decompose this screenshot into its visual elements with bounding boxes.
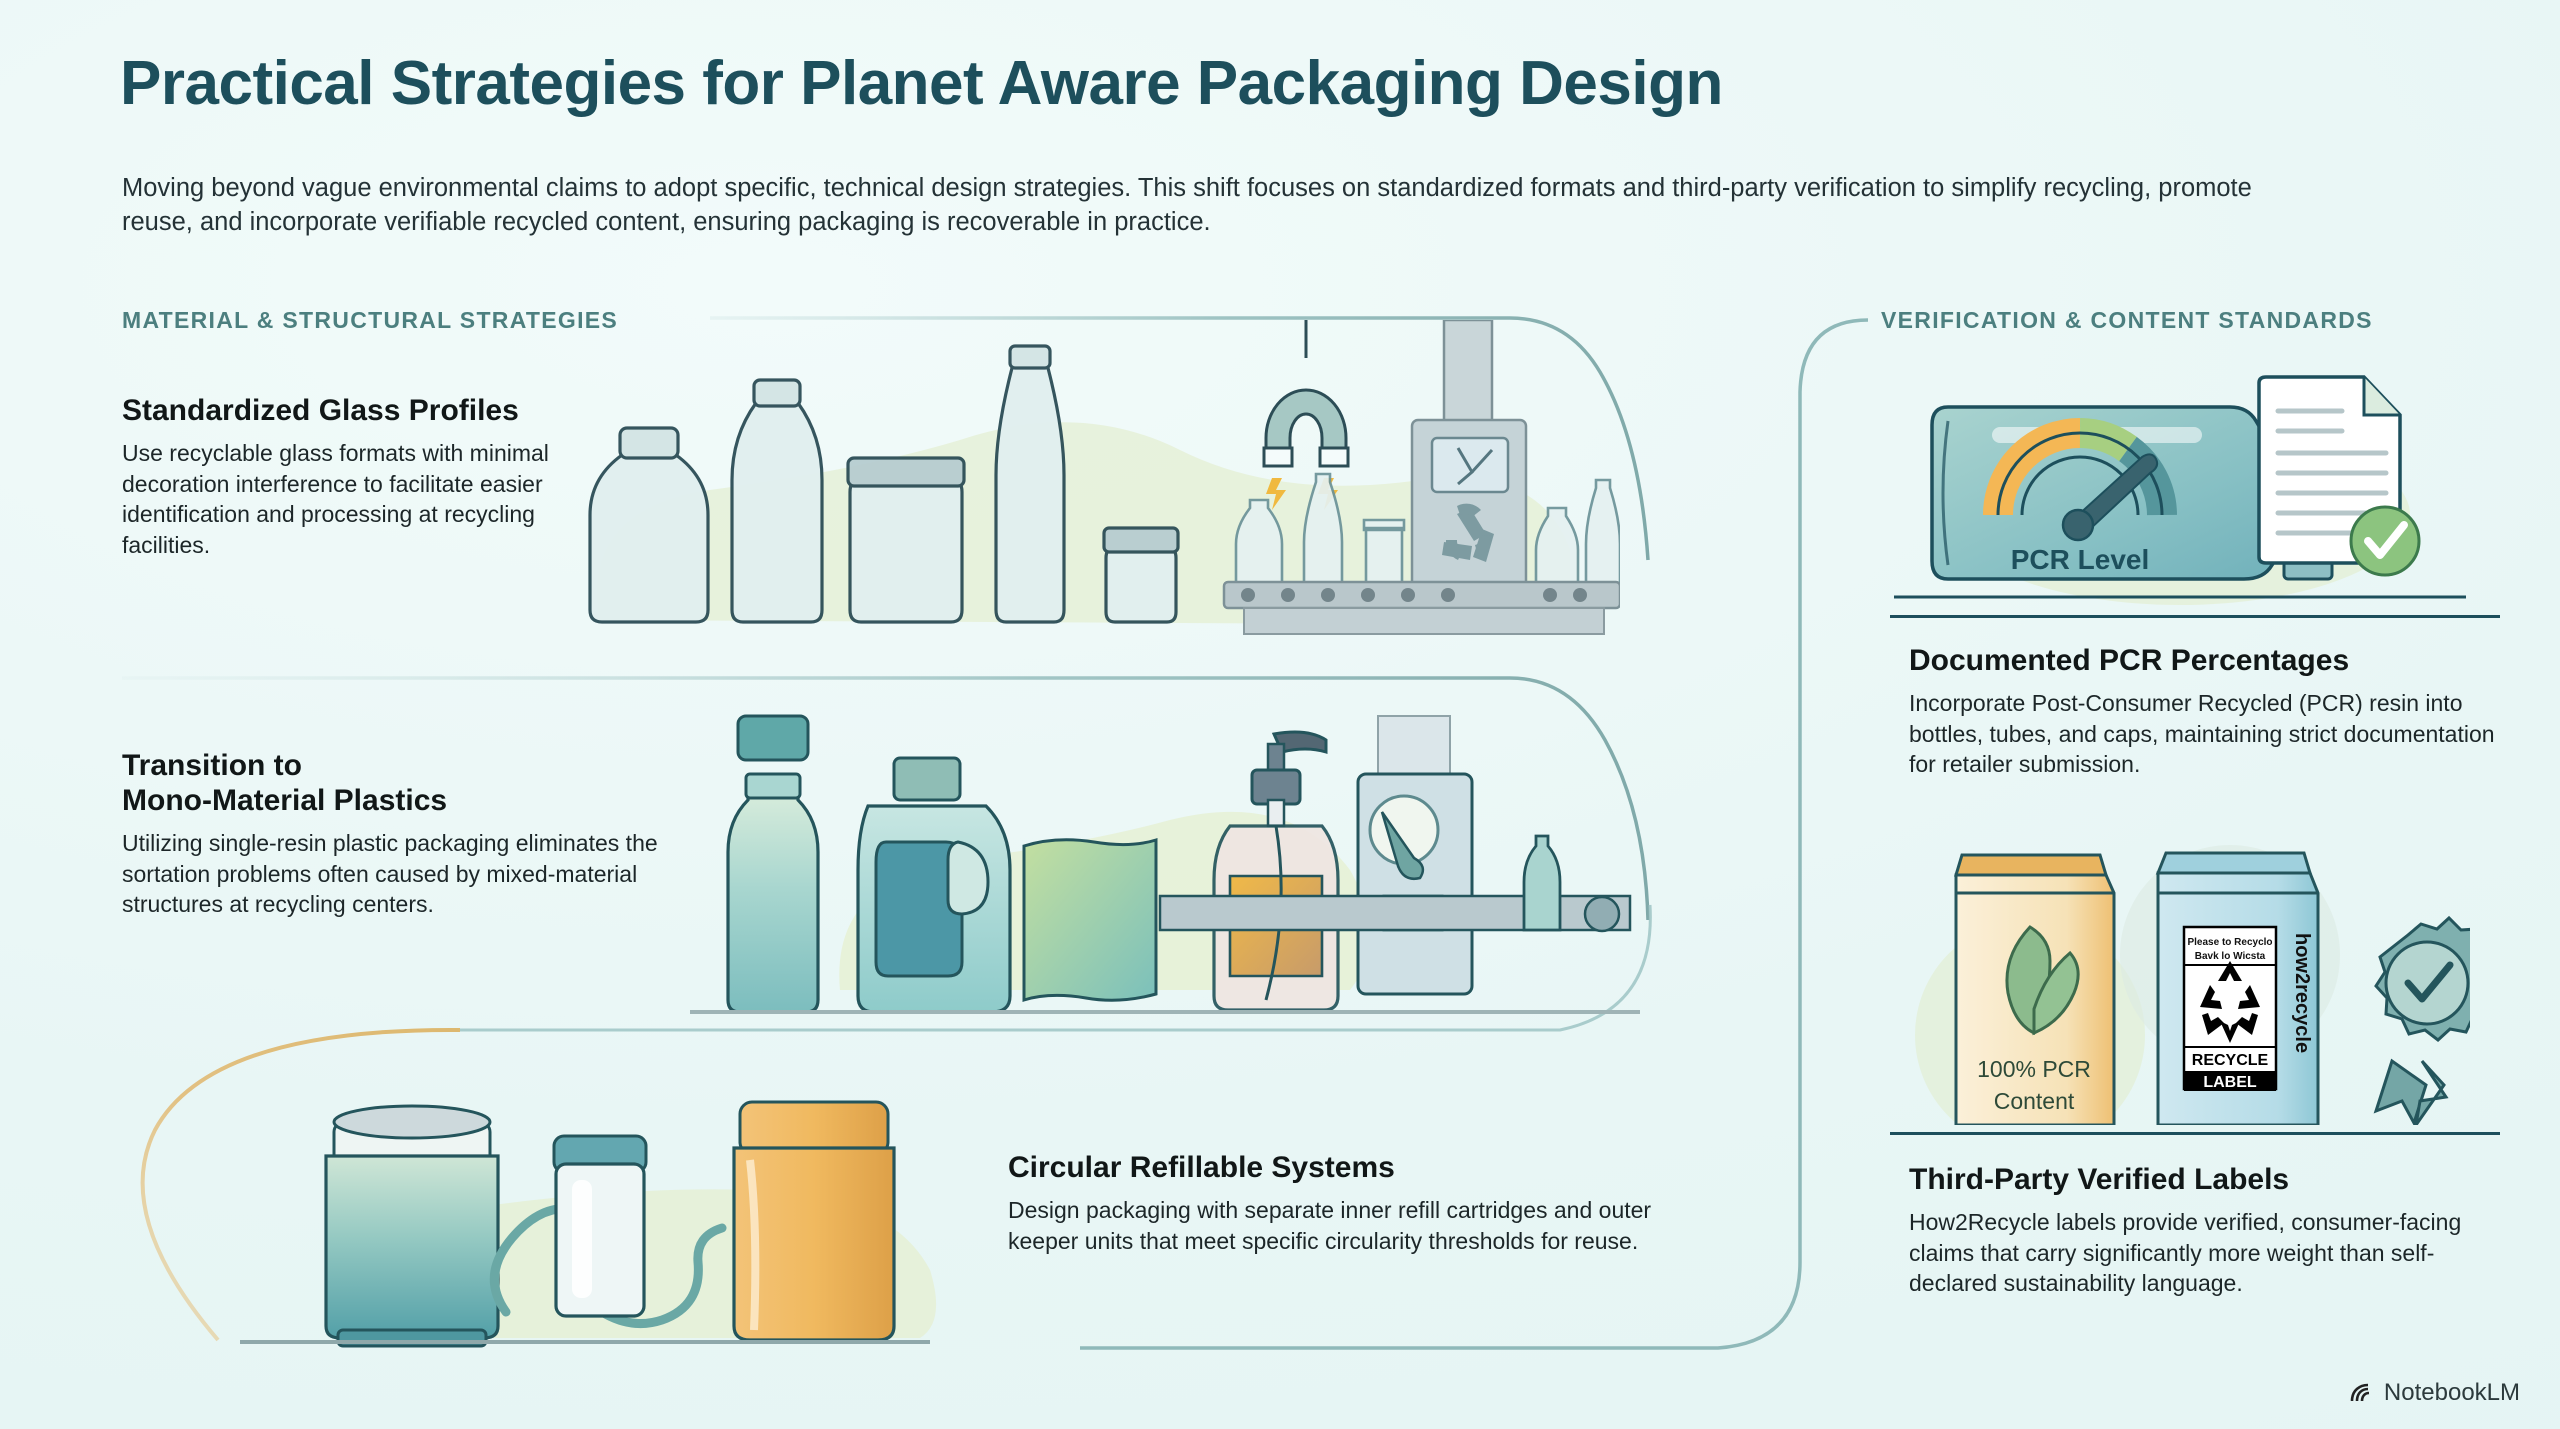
h2r-word-label: LABEL xyxy=(2203,1074,2257,1091)
divider-pcr xyxy=(1890,615,2500,618)
h2r-vertical-text: how2recycle xyxy=(2291,933,2313,1053)
block-circular-refillable-systems: Circular Refillable Systems Design packa… xyxy=(1008,1150,1688,1256)
infographic-page: Practical Strategies for Planet Aware Pa… xyxy=(0,0,2560,1429)
divider-labels xyxy=(1890,1132,2500,1135)
illustration-glass-sorting-line xyxy=(560,320,1620,660)
h2r-word-recycle: RECYCLE xyxy=(2192,1052,2269,1069)
pcr-heading: Documented PCR Percentages xyxy=(1909,643,2509,678)
illustration-refillable-systems xyxy=(230,1030,990,1370)
block-standardized-glass-profiles: Standardized Glass Profiles Use recyclab… xyxy=(122,393,552,560)
page-subtitle: Moving beyond vague environmental claims… xyxy=(122,172,2307,240)
carton-pcr-line2: Content xyxy=(1994,1088,2075,1114)
carton-pcr-line1: 100% PCR xyxy=(1977,1056,2091,1082)
glass-heading: Standardized Glass Profiles xyxy=(122,393,552,428)
block-third-party-verified-labels: Third-Party Verified Labels How2Recycle … xyxy=(1909,1162,2509,1299)
pcr-body: Incorporate Post-Consumer Recycled (PCR)… xyxy=(1909,688,2509,780)
label-heading: Third-Party Verified Labels xyxy=(1909,1162,2509,1197)
section-label-material-structural: MATERIAL & STRUCTURAL STRATEGIES xyxy=(122,307,618,334)
illustration-pcr-gauge: PCR Level xyxy=(1880,365,2480,615)
glass-body: Use recyclable glass formats with minima… xyxy=(122,438,552,560)
illustration-mono-material-plastics xyxy=(690,700,1640,1040)
watermark-label: NotebookLM xyxy=(2384,1379,2520,1407)
refill-body: Design packaging with separate inner ref… xyxy=(1008,1195,1688,1256)
h2r-top-line2: Bavk lo Wicsta xyxy=(2195,951,2266,962)
section-label-verification-content: VERIFICATION & CONTENT STANDARDS xyxy=(1881,307,2373,334)
pcr-gauge-label: PCR Level xyxy=(2011,544,2150,575)
mono-heading-line2: Mono-Material Plastics xyxy=(122,784,447,817)
notebooklm-logo-icon xyxy=(2349,1382,2375,1404)
mono-body: Utilizing single-resin plastic packaging… xyxy=(122,828,662,920)
mono-heading: Transition to Mono-Material Plastics xyxy=(122,748,662,818)
h2r-top-line1: Please to Recyclo xyxy=(2187,937,2272,948)
verified-badge-icon xyxy=(2376,918,2470,1125)
illustration-how2recycle-labels: 100% PCR Content Please to Recyclo Bavk … xyxy=(1900,835,2470,1125)
block-documented-pcr-percentages: Documented PCR Percentages Incorporate P… xyxy=(1909,643,2509,780)
magnet-icon xyxy=(1264,320,1348,510)
block-mono-material-plastics: Transition to Mono-Material Plastics Uti… xyxy=(122,748,662,920)
mono-heading-line1: Transition to xyxy=(122,749,302,782)
label-body: How2Recycle labels provide verified, con… xyxy=(1909,1207,2509,1299)
refill-heading: Circular Refillable Systems xyxy=(1008,1150,1688,1185)
notebooklm-watermark: NotebookLM xyxy=(2349,1379,2520,1407)
page-title: Practical Strategies for Planet Aware Pa… xyxy=(120,48,1723,119)
